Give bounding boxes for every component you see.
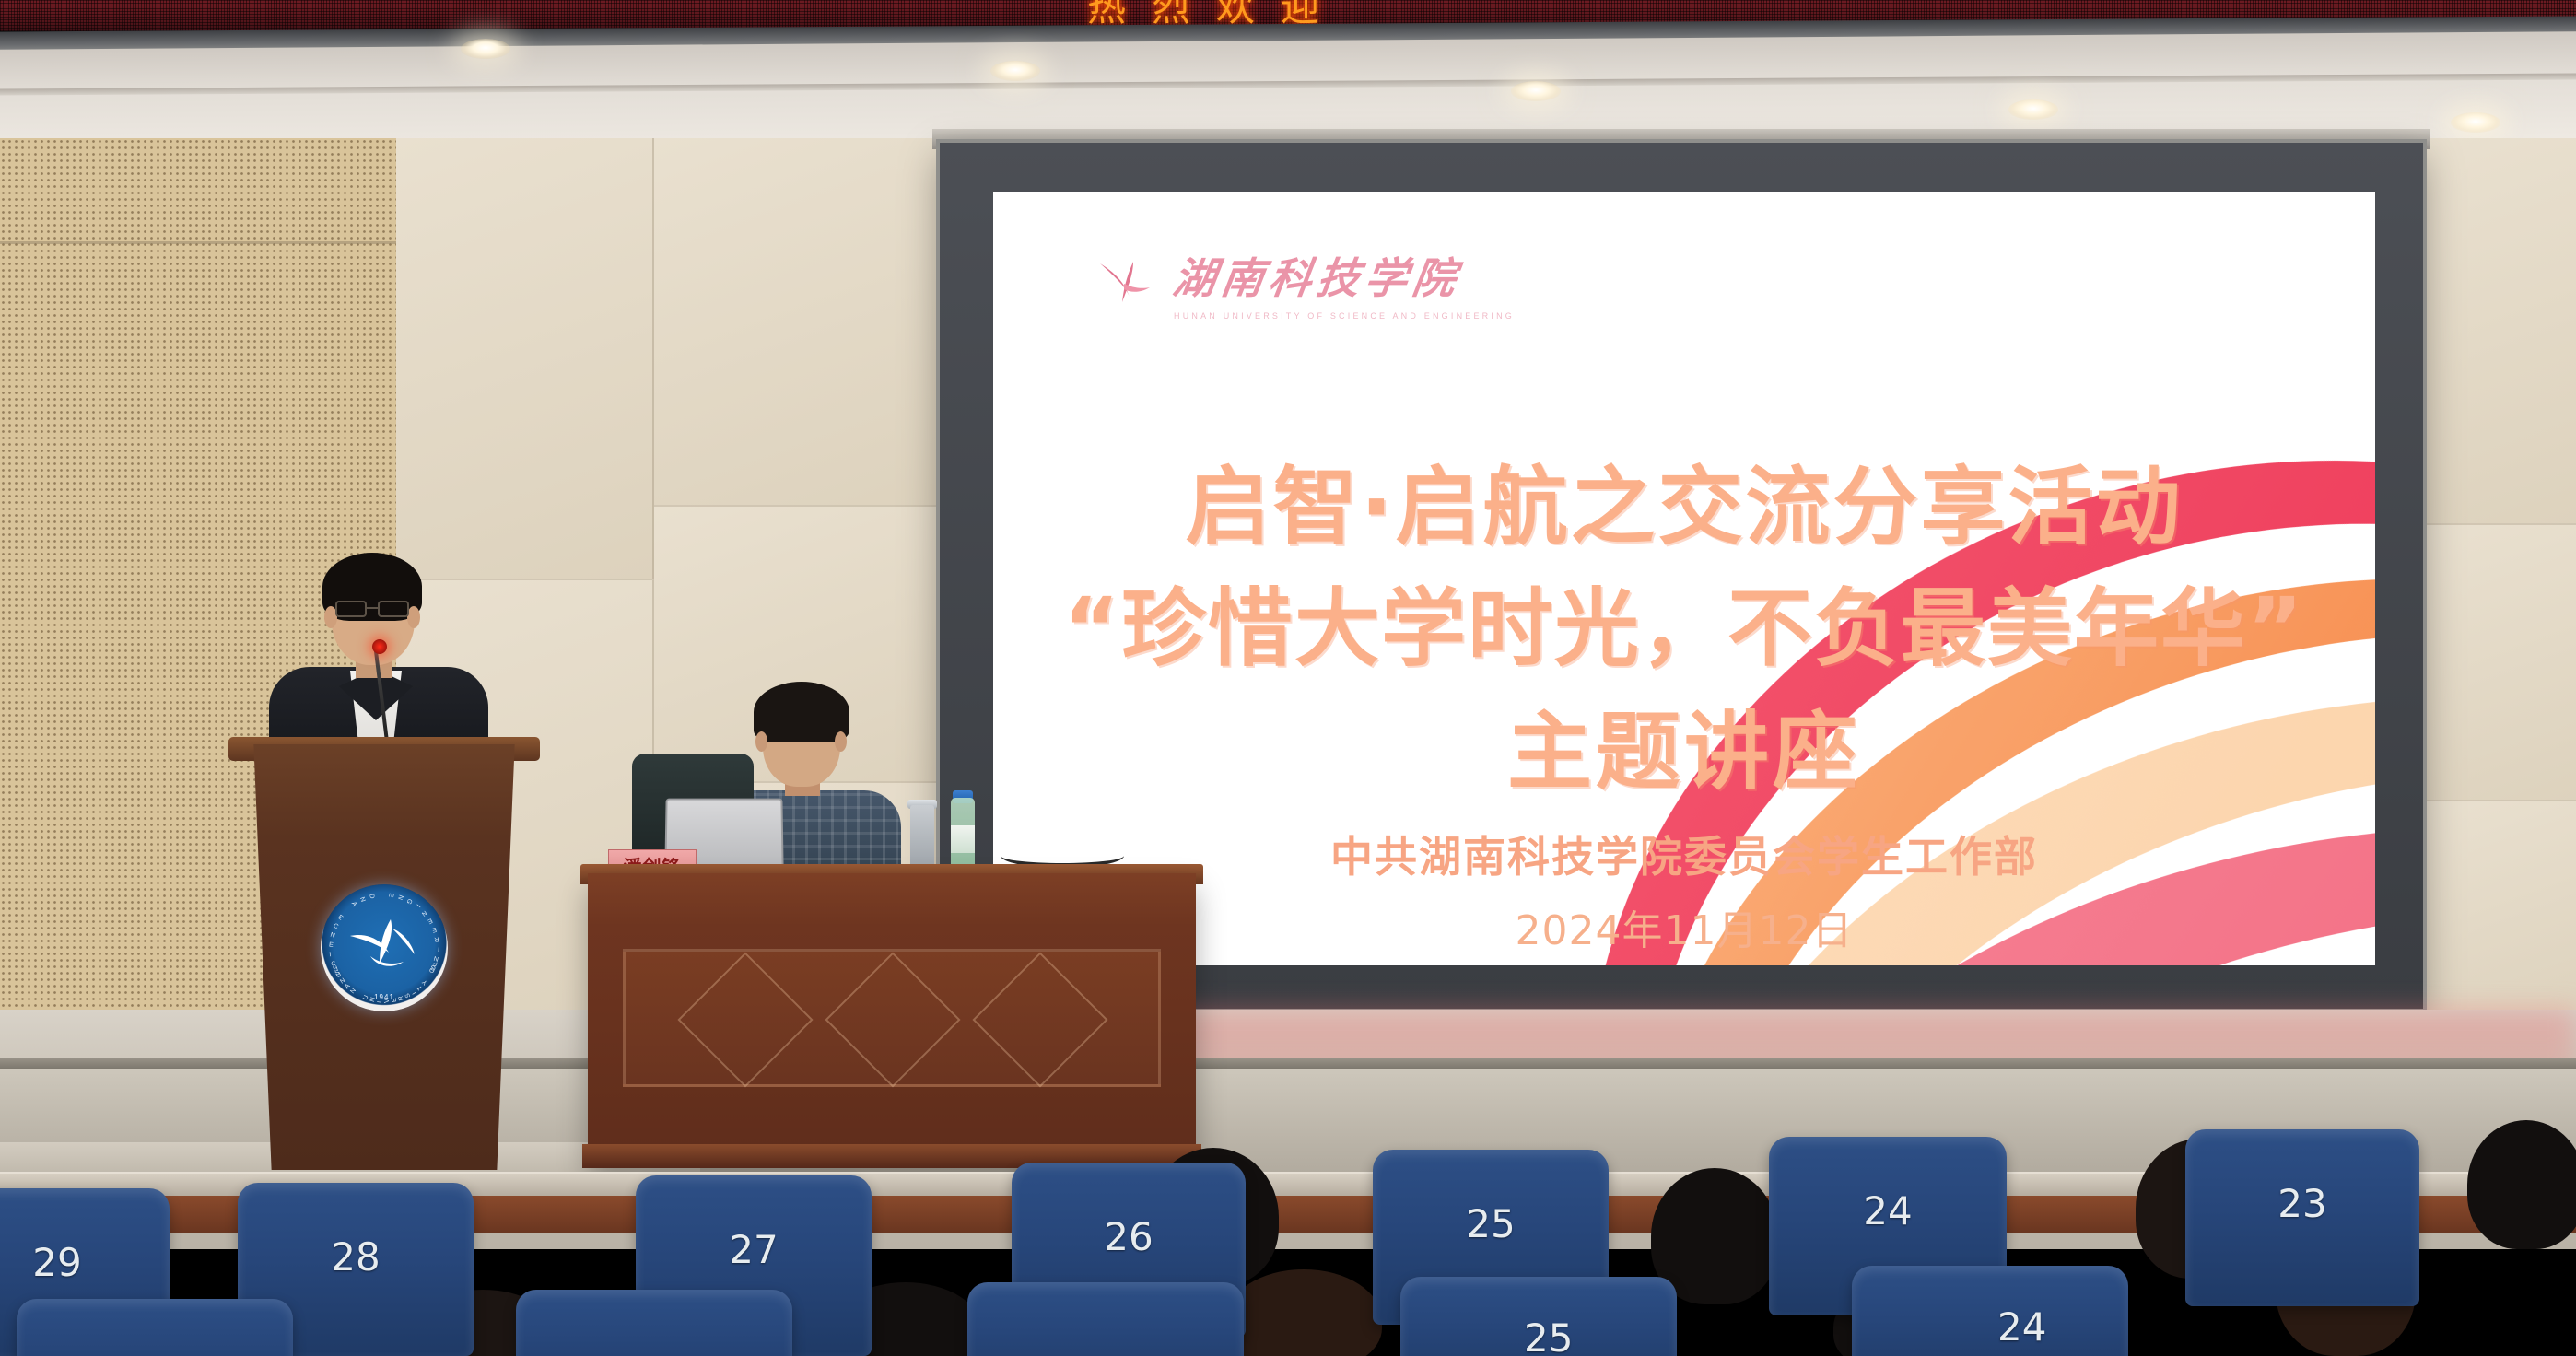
- slide-title-line-1: 启智·启航之交流分享活动: [993, 438, 2375, 561]
- table-diamond-motif: [972, 952, 1107, 1087]
- ceiling-downlight: [1511, 81, 1561, 101]
- auditorium-seat[interactable]: 23: [2185, 1129, 2419, 1306]
- seat-number: 24: [1769, 1188, 2007, 1233]
- seat-number: 25: [1400, 1315, 1677, 1356]
- slide-logo-cn: 湖南科技学院: [1169, 245, 1518, 306]
- ceiling-downlight: [2451, 112, 2500, 133]
- microphone-indicator-icon: [372, 639, 387, 654]
- emblem-ring-text: SCIENCE AND ENGINEERINGHUNAN UNIVERSITY …: [321, 884, 448, 1011]
- seat-number: 26: [1012, 1214, 1246, 1259]
- auditorium-seat[interactable]: [516, 1290, 792, 1356]
- slide-title-line-3: 主题讲座: [993, 684, 2375, 806]
- water-bottle-label: [951, 825, 975, 853]
- seat-number: 25: [1373, 1201, 1609, 1246]
- speaker-glasses-bridge: [367, 607, 378, 609]
- ceiling-downlight: [2008, 99, 2058, 120]
- wall-panel: [2423, 801, 2576, 1023]
- slide-logo-en: HUNAN UNIVERSITY OF SCIENCE AND ENGINEER…: [1174, 311, 1515, 321]
- presentation-screen: 湖南科技学院 HUNAN UNIVERSITY OF SCIENCE AND E…: [993, 192, 2375, 965]
- slide-content: 湖南科技学院 HUNAN UNIVERSITY OF SCIENCE AND E…: [993, 192, 2375, 965]
- seat-number: 27: [636, 1227, 872, 1272]
- slide-title-line-2: “珍惜大学时光，不负最美年华”: [993, 560, 2375, 683]
- auditorium-scene: 热烈欢迎: [0, 0, 2576, 1356]
- table-front-panel: [623, 949, 1161, 1087]
- speaker-glasses-left-lens: [335, 601, 367, 617]
- audience-head: [2467, 1120, 2576, 1249]
- ceiling-downlight: [990, 61, 1040, 81]
- seated-hair: [754, 682, 849, 742]
- wall-panel: [396, 138, 654, 580]
- seat-number: 28: [238, 1234, 474, 1280]
- wall-panel: [654, 138, 958, 507]
- conference-table: [588, 873, 1196, 1166]
- wall-panel: [2423, 525, 2576, 801]
- phoenix-bird-icon: [1096, 256, 1153, 310]
- wall-seam: [0, 241, 396, 244]
- seat-number: 23: [2185, 1181, 2419, 1226]
- slide-date: 2024年11月12日: [993, 897, 2375, 956]
- speaker-glasses-right-lens: [378, 601, 409, 617]
- seated-ear-left: [755, 731, 767, 752]
- audience-head: [1225, 1269, 1382, 1356]
- table-diamond-motif: [825, 952, 960, 1087]
- auditorium-seat[interactable]: [967, 1282, 1244, 1356]
- university-emblem-icon: 1941 SCIENCE AND ENGINEERINGHUNAN UNIVER…: [321, 884, 448, 1011]
- seat-number: 24: [1852, 1304, 2128, 1350]
- ceiling-downlight: [461, 39, 510, 59]
- auditorium-seat[interactable]: 25: [1400, 1277, 1677, 1356]
- speaker-ear-right: [407, 606, 420, 628]
- auditorium-seat[interactable]: 24: [1852, 1266, 2128, 1356]
- seated-ear-right: [835, 731, 847, 752]
- wall-panel: [2423, 138, 2576, 525]
- slide-logo: 湖南科技学院 HUNAN UNIVERSITY OF SCIENCE AND E…: [1096, 245, 1515, 321]
- seat-number: 29: [0, 1240, 170, 1285]
- auditorium-seat[interactable]: [17, 1299, 293, 1356]
- table-diamond-motif: [677, 952, 813, 1087]
